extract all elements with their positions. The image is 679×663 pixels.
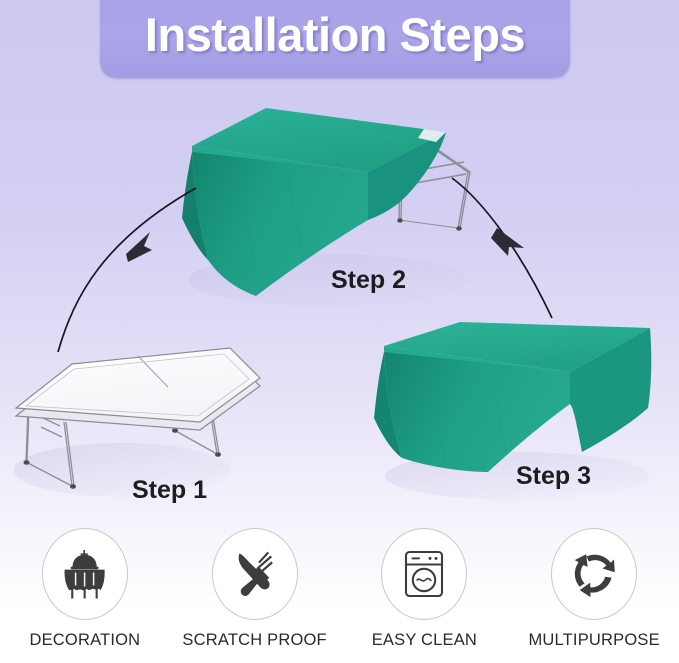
feature-multipurpose-ring: [551, 528, 637, 620]
recycle-arrows-icon: [565, 545, 623, 603]
table-with-cloche-icon: [56, 545, 114, 603]
feature-multipurpose: MULTIPURPOSE: [509, 528, 679, 663]
washing-machine-icon: [395, 545, 453, 603]
feature-easy-clean: EASY CLEAN: [340, 528, 510, 663]
step-3-label: Step 3: [516, 462, 591, 491]
arrow-step1-to-step2-path: [58, 188, 196, 352]
feature-decoration: DECORATION: [0, 528, 170, 663]
feature-scratch-proof-label: SCRATCH PROOF: [182, 631, 326, 650]
feature-decoration-ring: [42, 528, 128, 620]
arrow-step1-to-step2-head: [126, 232, 152, 262]
feature-row: DECORATION SCRATCH P: [0, 528, 679, 663]
feature-scratch-proof: SCRATCH PROOF: [170, 528, 340, 663]
step-1-label: Step 1: [132, 476, 207, 505]
feature-scratch-proof-ring: [212, 528, 298, 620]
knife-and-fork-icon: [227, 546, 283, 602]
feature-decoration-label: DECORATION: [29, 631, 140, 650]
arrow-step2-to-step3-head: [491, 228, 524, 256]
feature-easy-clean-label: EASY CLEAN: [372, 631, 477, 650]
feature-easy-clean-ring: [381, 528, 467, 620]
step-2-label: Step 2: [331, 266, 406, 295]
installation-steps-infographic: Installation Steps: [0, 0, 679, 663]
feature-multipurpose-label: MULTIPURPOSE: [528, 631, 659, 650]
